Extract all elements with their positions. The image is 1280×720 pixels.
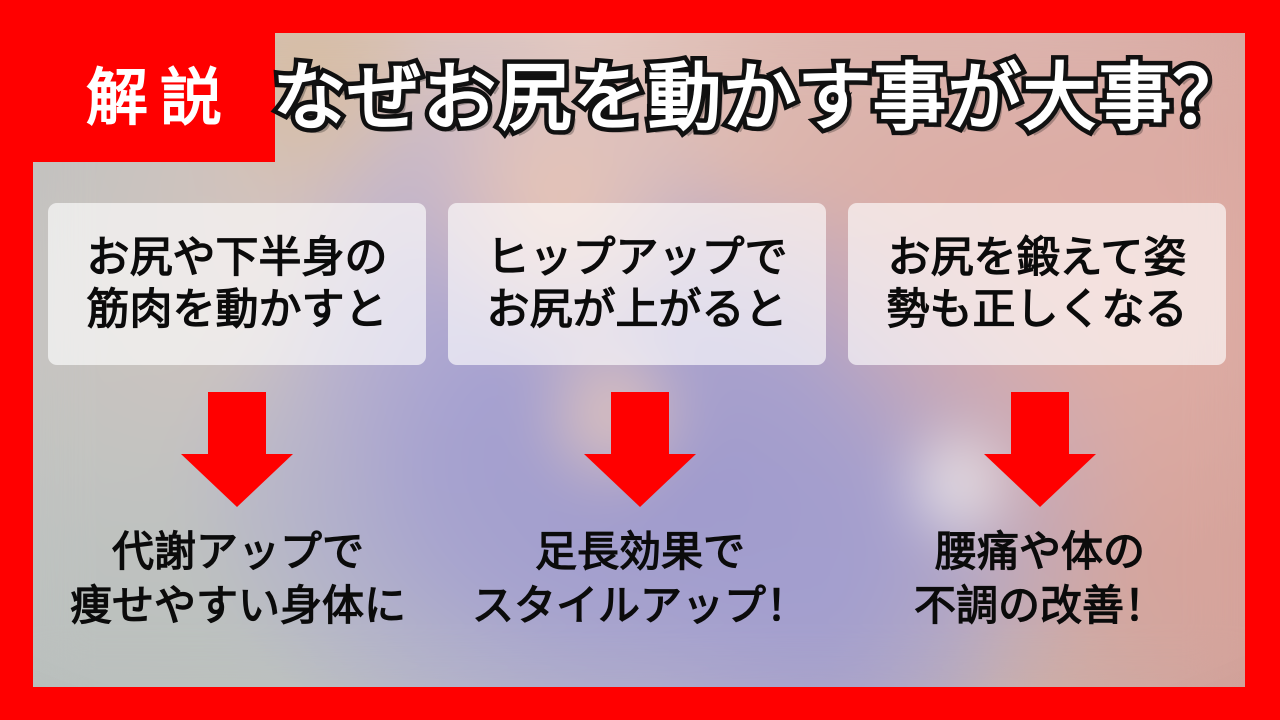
premise-card-3-line1: お尻を鍛えて姿 xyxy=(888,234,1187,282)
outcome-text-1-line1: 代謝アップで xyxy=(112,528,364,576)
premise-card-1-line1: お尻や下半身の xyxy=(87,234,388,282)
outcome-text-1: 代謝アップで 痩せやすい身体に xyxy=(38,528,438,630)
page-title-text: なぜお尻を動かす事が大事？ xyxy=(273,61,1248,135)
premise-card-2-line2: お尻が上がると xyxy=(487,286,788,334)
outcome-text-1-line2: 痩せやすい身体に xyxy=(70,582,406,630)
explanation-badge-label: 解説 xyxy=(74,67,234,129)
down-arrow-icon-1 xyxy=(181,392,293,507)
outcome-text-2-line1: 足長効果で xyxy=(535,528,745,576)
outcome-text-2-line2: スタイルアップ！ xyxy=(472,582,808,630)
premise-card-3-line2: 勢も正しくなる xyxy=(887,286,1188,334)
premise-card-1-line2: 筋肉を動かすと xyxy=(87,286,388,334)
premise-card-2: ヒップアップで お尻が上がると xyxy=(448,203,826,365)
down-arrow-icon-3 xyxy=(984,392,1096,507)
premise-card-3: お尻を鍛えて姿 勢も正しくなる xyxy=(848,203,1226,365)
page-title: なぜお尻を動かす事が大事？ xyxy=(275,33,1245,162)
down-arrow-icon-2 xyxy=(584,392,696,507)
infographic-canvas: 解説 なぜお尻を動かす事が大事？ お尻や下半身の 筋肉を動かすと ヒップアップで… xyxy=(0,0,1280,720)
explanation-badge: 解説 xyxy=(33,33,275,162)
headline-row: 解説 なぜお尻を動かす事が大事？ xyxy=(33,33,1245,163)
premise-card-2-line1: ヒップアップで xyxy=(487,234,788,282)
outcome-text-2: 足長効果で スタイルアップ！ xyxy=(440,528,840,630)
premise-card-1: お尻や下半身の 筋肉を動かすと xyxy=(48,203,426,365)
outcome-text-3-line1: 腰痛や体の xyxy=(935,528,1145,576)
outcome-text-3-line2: 不調の改善！ xyxy=(914,582,1166,630)
outcome-text-3: 腰痛や体の 不調の改善！ xyxy=(840,528,1240,630)
